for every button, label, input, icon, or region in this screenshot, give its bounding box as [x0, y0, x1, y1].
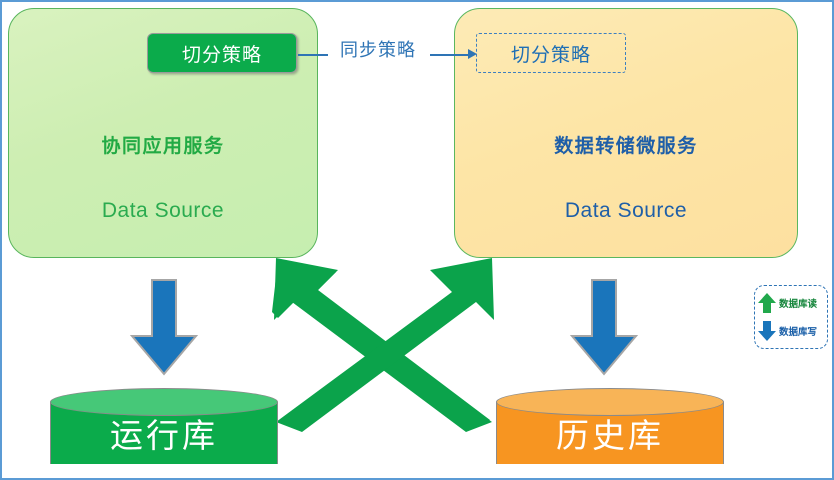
arrow-down-icon: [757, 319, 777, 343]
legend-item-write: 数据库写: [757, 317, 827, 345]
chip-split-strategy-right[interactable]: 切分策略: [476, 33, 626, 73]
panel-datasource-label-left: Data Source: [9, 199, 317, 223]
write-arrow-right: [568, 278, 640, 378]
write-arrow-left: [128, 278, 200, 378]
sync-arrowhead-icon: [468, 49, 477, 59]
database-runtime[interactable]: 运行库: [50, 388, 278, 466]
sync-strategy-label: 同步策略: [328, 36, 428, 62]
legend-label-read: 数据库读: [779, 296, 817, 310]
legend: 数据库读 数据库写: [754, 285, 828, 349]
arrow-down-icon: [128, 278, 200, 378]
panel-title-data-transfer: 数据转储微服务: [455, 131, 797, 158]
panel-title-collab-app: 协同应用服务: [9, 131, 317, 158]
legend-label-write: 数据库写: [779, 324, 817, 338]
read-arrows-crossing: [260, 252, 510, 432]
panel-datasource-label-right: Data Source: [455, 199, 797, 223]
diagram-canvas: 协同应用服务 Data Source 切分策略 数据转储微服务 Data Sou…: [0, 0, 834, 480]
database-history[interactable]: 历史库: [496, 388, 724, 466]
chip-split-strategy-left[interactable]: 切分策略: [147, 33, 297, 73]
arrow-down-icon: [568, 278, 640, 378]
sync-connector-line-left: [298, 54, 328, 56]
database-history-label: 历史库: [496, 402, 724, 464]
legend-item-read: 数据库读: [757, 289, 827, 317]
sync-connector-line-right: [430, 54, 470, 56]
database-runtime-label: 运行库: [50, 402, 278, 464]
arrow-up-icon: [757, 291, 777, 315]
